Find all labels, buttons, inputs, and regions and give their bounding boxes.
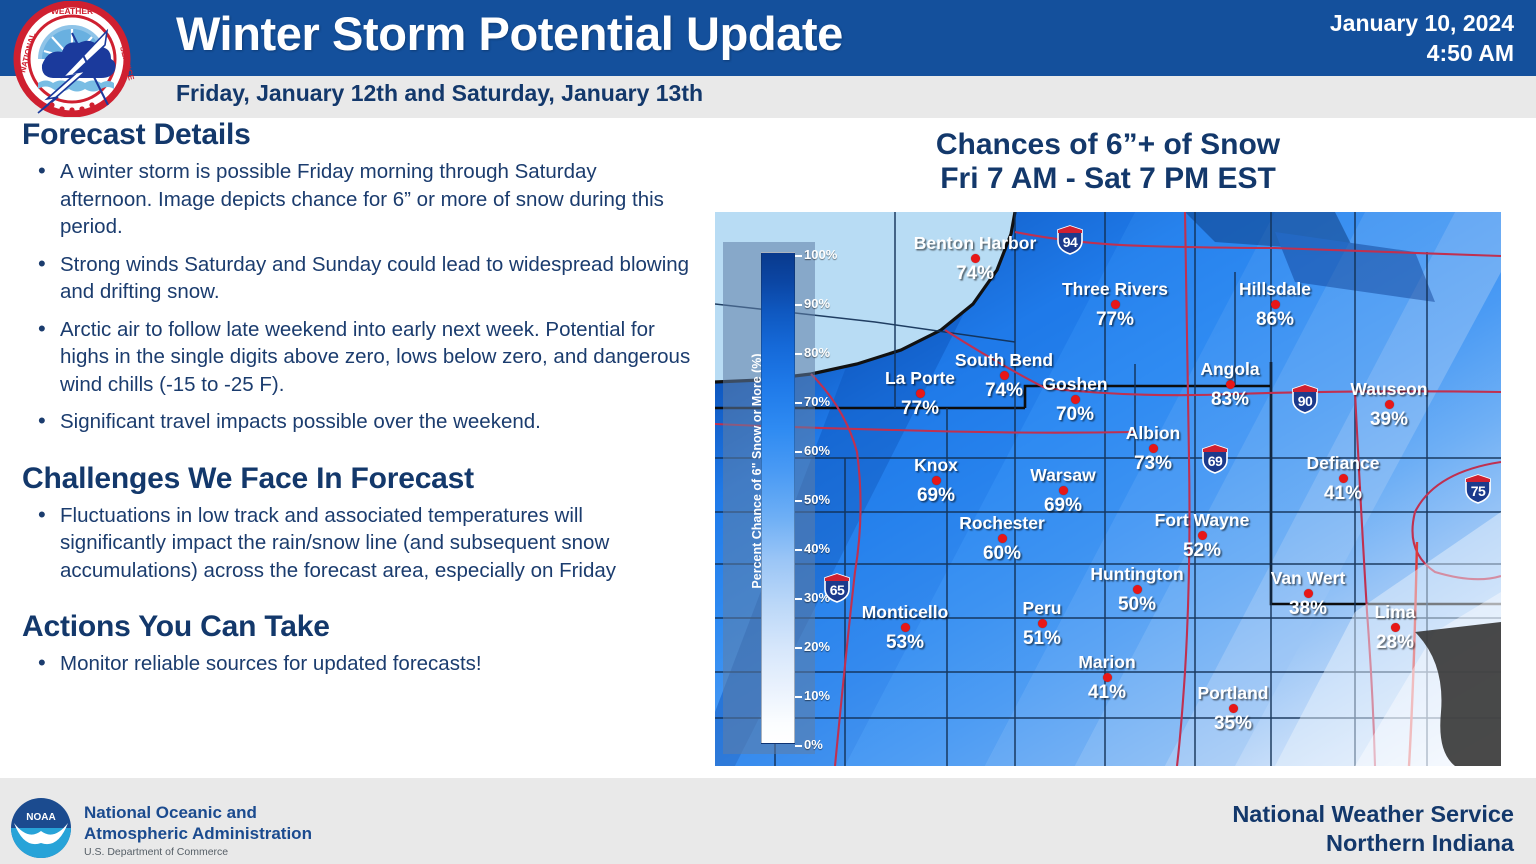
- city-marker-dot: [1000, 371, 1009, 380]
- colorbar-tick: 50%: [804, 492, 830, 507]
- issuing-office: National Weather Service Northern Indian…: [1232, 800, 1514, 858]
- city-probability: 41%: [1063, 682, 1151, 703]
- city-probability: 83%: [1185, 389, 1275, 410]
- interstate-90-shield: 90: [1290, 384, 1320, 414]
- colorbar-tick: 0%: [804, 737, 823, 752]
- city-name: Monticello: [850, 603, 960, 622]
- colorbar-tick: 60%: [804, 443, 830, 458]
- city-name: Marion: [1063, 653, 1151, 672]
- city-van-wert: Van Wert 38%: [1257, 569, 1359, 619]
- city-name: Huntington: [1079, 565, 1195, 584]
- city-marker-dot: [1226, 380, 1235, 389]
- noaa-logo: NOAA: [10, 797, 72, 859]
- shield-number: 65: [822, 582, 852, 598]
- page-subtitle: Friday, January 12th and Saturday, Janua…: [176, 80, 703, 107]
- city-angola: Angola 83%: [1185, 360, 1275, 410]
- noaa-line-2: Atmospheric Administration: [84, 823, 312, 844]
- city-albion: Albion 73%: [1110, 424, 1196, 474]
- city-name: South Bend: [943, 351, 1065, 370]
- city-marker-dot: [1111, 300, 1120, 309]
- footer-bar: NOAA National Oceanic and Atmospheric Ad…: [0, 778, 1536, 864]
- actions-list: Monitor reliable sources for updated for…: [36, 650, 712, 678]
- shield-number: 75: [1463, 483, 1493, 499]
- winter-storm-graphic: WEATHER NATIONAL SERVICE Winter Storm Po…: [0, 0, 1536, 864]
- challenges-list: Fluctuations in low track and associated…: [36, 502, 712, 585]
- city-marker-dot: [1071, 395, 1080, 404]
- city-probability: 28%: [1360, 632, 1430, 653]
- city-marker-dot: [1198, 531, 1207, 540]
- city-wauseon: Wauseon 39%: [1333, 380, 1445, 430]
- svg-text:NOAA: NOAA: [26, 812, 55, 823]
- city-name: Rochester: [945, 514, 1059, 533]
- city-marker-dot: [971, 254, 980, 263]
- city-probability: 70%: [1030, 404, 1120, 425]
- city-name: Van Wert: [1257, 569, 1359, 588]
- city-name: Warsaw: [1017, 466, 1109, 485]
- noaa-agency-name: National Oceanic and Atmospheric Adminis…: [84, 802, 312, 844]
- city-peru: Peru 51%: [1007, 599, 1077, 649]
- page-title: Winter Storm Potential Update: [176, 6, 843, 61]
- city-marker-dot: [1271, 300, 1280, 309]
- noaa-department: U.S. Department of Commerce: [84, 846, 228, 859]
- city-name: Hillsdale: [1220, 280, 1330, 299]
- office-line-2: Northern Indiana: [1232, 829, 1514, 858]
- city-probability: 86%: [1220, 309, 1330, 330]
- city-portland: Portland 35%: [1187, 684, 1279, 734]
- city-name: Angola: [1185, 360, 1275, 379]
- city-probability: 51%: [1007, 628, 1077, 649]
- city-rochester: Rochester 60%: [945, 514, 1059, 564]
- city-name: Wauseon: [1333, 380, 1445, 399]
- list-item: Strong winds Saturday and Sunday could l…: [36, 251, 691, 306]
- issue-date: January 10, 2024: [1330, 8, 1514, 38]
- svg-text:WEATHER: WEATHER: [51, 6, 93, 16]
- header-timestamp: January 10, 2024 4:50 AM: [1330, 8, 1514, 68]
- city-marker-dot: [932, 476, 941, 485]
- city-name: Albion: [1110, 424, 1196, 443]
- city-name: Goshen: [1030, 375, 1120, 394]
- forecast-text-column: Forecast Details A winter storm is possi…: [0, 118, 712, 778]
- city-knox: Knox 69%: [900, 456, 972, 506]
- city-probability: 39%: [1333, 409, 1445, 430]
- national-weather-service-logo: WEATHER NATIONAL SERVICE: [8, 1, 136, 117]
- city-name: Three Rivers: [1050, 280, 1180, 299]
- forecast-details-list: A winter storm is possible Friday mornin…: [36, 158, 712, 436]
- city-goshen: Goshen 70%: [1030, 375, 1120, 425]
- city-huntington: Huntington 50%: [1079, 565, 1195, 615]
- noaa-line-1: National Oceanic and: [84, 802, 312, 823]
- section-heading-challenges: Challenges We Face In Forecast: [22, 462, 712, 496]
- list-item: Monitor reliable sources for updated for…: [36, 650, 691, 678]
- city-probability: 38%: [1257, 598, 1359, 619]
- city-name: Knox: [900, 456, 972, 475]
- list-item: A winter storm is possible Friday mornin…: [36, 158, 691, 241]
- city-fort-wayne: Fort Wayne 52%: [1143, 511, 1261, 561]
- city-name: Defiance: [1295, 454, 1391, 473]
- list-item: Fluctuations in low track and associated…: [36, 502, 691, 585]
- city-marker-dot: [1103, 673, 1112, 682]
- shield-number: 94: [1055, 234, 1085, 250]
- colorbar-tick: 70%: [804, 394, 830, 409]
- colorbar-tick: 20%: [804, 639, 830, 654]
- colorbar-tick-labels: 100% 90% 80% 70% 60% 50% 40% 30% 20% 10%…: [795, 246, 865, 750]
- city-marker-dot: [1304, 589, 1313, 598]
- city-marker-dot: [1133, 585, 1142, 594]
- city-monticello: Monticello 53%: [850, 603, 960, 653]
- city-marker-dot: [1059, 486, 1068, 495]
- colorbar-tick: 100%: [804, 247, 837, 262]
- section-heading-forecast-details: Forecast Details: [22, 118, 712, 152]
- city-probability: 77%: [870, 398, 970, 419]
- city-marker-dot: [1385, 400, 1394, 409]
- city-marker-dot: [1149, 444, 1158, 453]
- colorbar-tick: 90%: [804, 296, 830, 311]
- map-colorbar-legend: Percent Chance of 6" Snow or More (%) 10…: [723, 242, 815, 754]
- section-heading-actions: Actions You Can Take: [22, 610, 712, 644]
- colorbar-gradient: [761, 252, 795, 744]
- interstate-69-shield: 69: [1200, 444, 1230, 474]
- city-marker-dot: [1229, 704, 1238, 713]
- list-item: Arctic air to follow late weekend into e…: [36, 316, 691, 399]
- city-probability: 41%: [1295, 483, 1391, 504]
- city-warsaw: Warsaw 69%: [1017, 466, 1109, 516]
- city-probability: 73%: [1110, 453, 1196, 474]
- interstate-65-shield: 65: [822, 573, 852, 603]
- city-marker-dot: [998, 534, 1007, 543]
- office-line-1: National Weather Service: [1232, 800, 1514, 829]
- city-marker-dot: [1038, 619, 1047, 628]
- shield-number: 69: [1200, 453, 1230, 469]
- map-title: Chances of 6”+ of Snow Fri 7 AM - Sat 7 …: [716, 128, 1500, 196]
- city-probability: 50%: [1079, 594, 1195, 615]
- city-name: Benton Harbor: [900, 234, 1050, 253]
- colorbar-tick: 80%: [804, 345, 830, 360]
- city-hillsdale: Hillsdale 86%: [1220, 280, 1330, 330]
- city-name: Portland: [1187, 684, 1279, 703]
- city-three-rivers: Three Rivers 77%: [1050, 280, 1180, 330]
- city-lima: Lima 28%: [1360, 603, 1430, 653]
- city-probability: 60%: [945, 543, 1059, 564]
- map-title-line-2: Fri 7 AM - Sat 7 PM EST: [716, 162, 1500, 196]
- list-item: Significant travel impacts possible over…: [36, 408, 691, 436]
- city-name: Peru: [1007, 599, 1077, 618]
- city-probability: 69%: [900, 485, 972, 506]
- city-defiance: Defiance 41%: [1295, 454, 1391, 504]
- city-probability: 77%: [1050, 309, 1180, 330]
- city-marker-dot: [901, 623, 910, 632]
- city-probability: 53%: [850, 632, 960, 653]
- city-name: Fort Wayne: [1143, 511, 1261, 530]
- shield-number: 90: [1290, 393, 1320, 409]
- city-probability: 35%: [1187, 713, 1279, 734]
- interstate-94-shield: 94: [1055, 225, 1085, 255]
- colorbar-tick: 40%: [804, 541, 830, 556]
- colorbar-tick: 10%: [804, 688, 830, 703]
- city-benton-harbor: Benton Harbor 74%: [900, 234, 1050, 284]
- interstate-75-shield: 75: [1463, 474, 1493, 504]
- city-probability: 74%: [900, 263, 1050, 284]
- issue-time: 4:50 AM: [1330, 38, 1514, 68]
- snow-probability-map: Percent Chance of 6" Snow or More (%) 10…: [715, 212, 1501, 766]
- city-probability: 52%: [1143, 540, 1261, 561]
- city-name: Lima: [1360, 603, 1430, 622]
- city-marion: Marion 41%: [1063, 653, 1151, 703]
- city-marker-dot: [916, 389, 925, 398]
- city-marker-dot: [1339, 474, 1348, 483]
- map-title-line-1: Chances of 6”+ of Snow: [716, 128, 1500, 162]
- city-marker-dot: [1391, 623, 1400, 632]
